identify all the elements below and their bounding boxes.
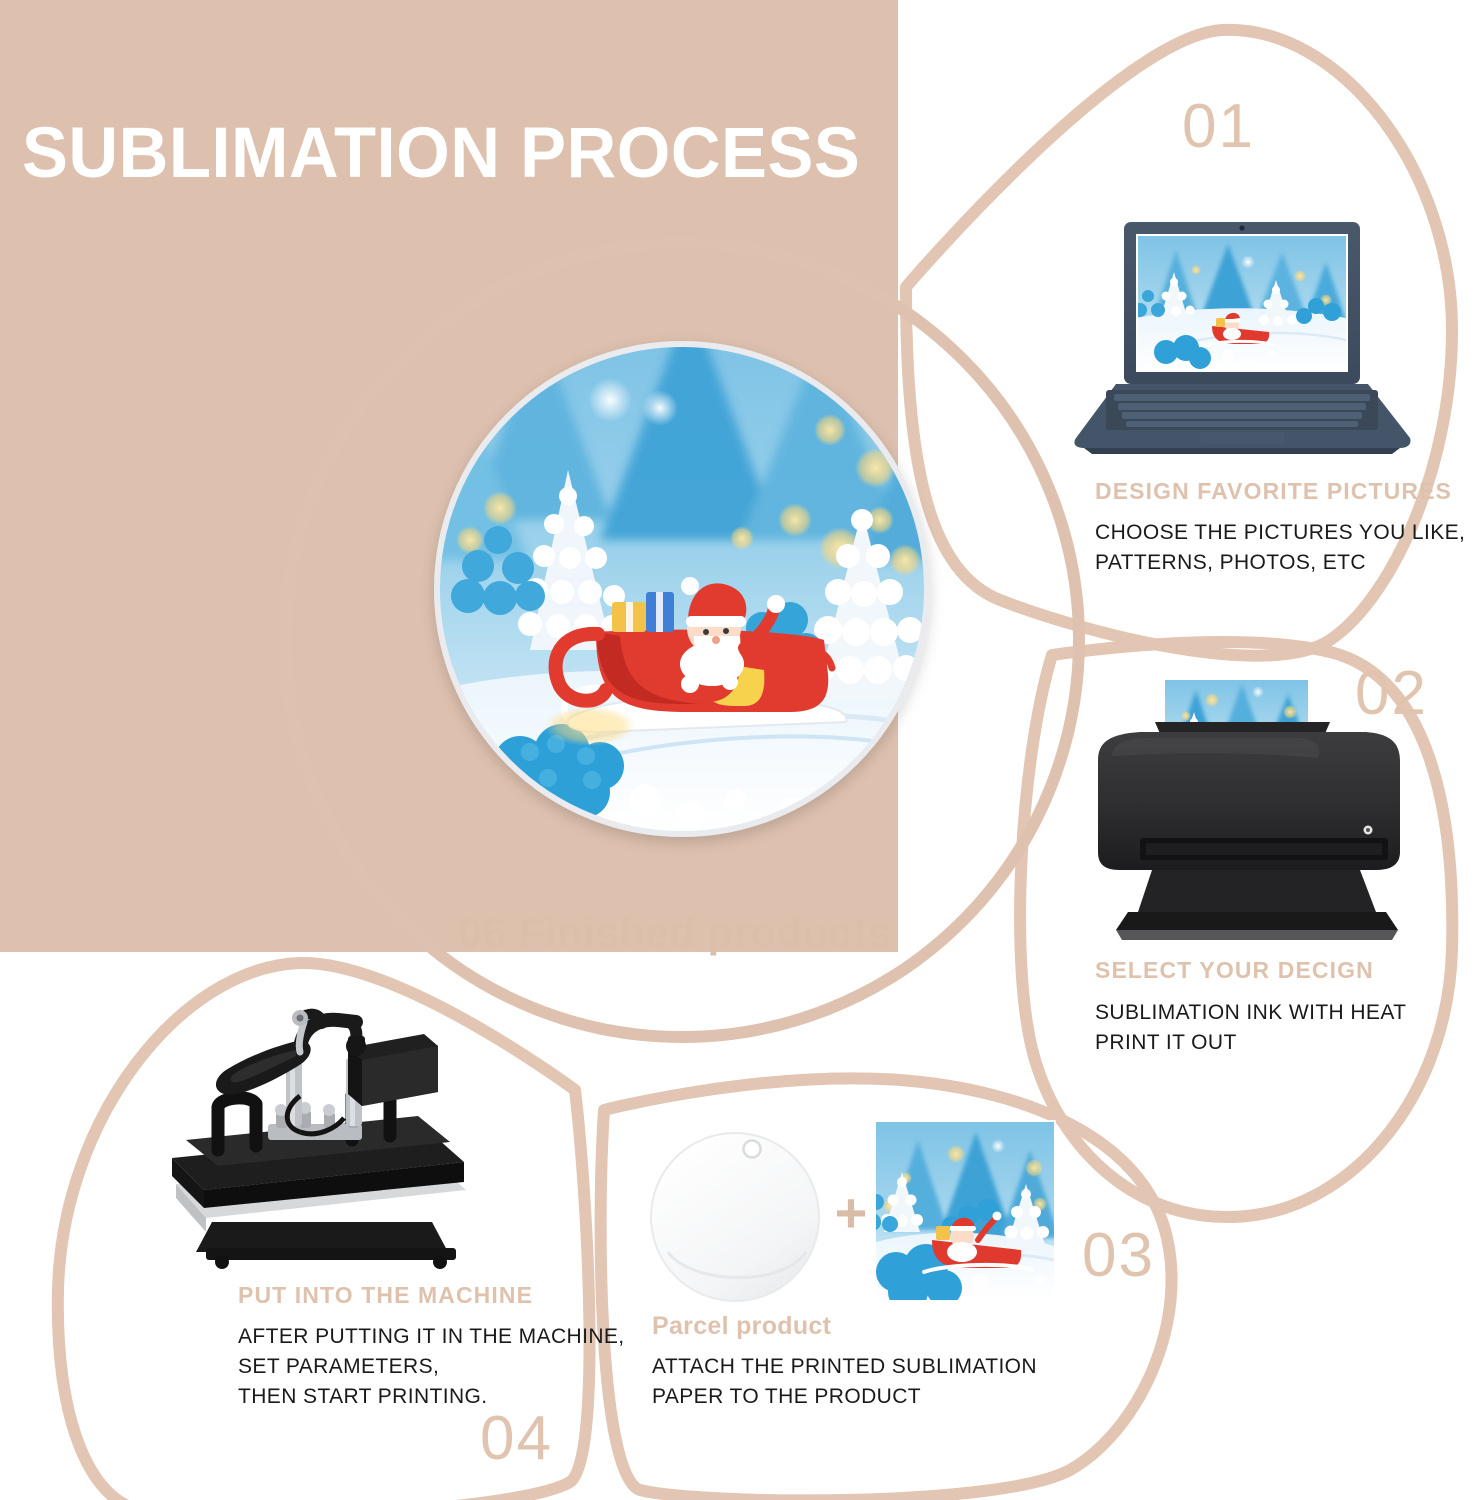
- step-heading-03: Parcel product: [652, 1312, 831, 1341]
- step-heading-02: SELECT YOUR DECIGN: [1095, 957, 1374, 984]
- plus-icon: +: [829, 1193, 873, 1237]
- page-title: SUBLIMATION PROCESS: [22, 118, 866, 189]
- step-number-04: 04: [480, 1408, 553, 1470]
- step-body-02: SUBLIMATION INK WITH HEAT PRINT IT OUT: [1095, 998, 1406, 1058]
- step-number-02: 02: [1355, 663, 1428, 725]
- step-body-04: AFTER PUTTING IT IN THE MACHINE, SET PAR…: [238, 1322, 625, 1411]
- blank-ornament-icon: [651, 1133, 819, 1301]
- laptop-icon: [1074, 222, 1410, 454]
- step-body-03: ATTACH THE PRINTED SUBLIMATION PAPER TO …: [652, 1352, 1037, 1412]
- printed-design-square: [863, 1120, 1060, 1312]
- step-heading-01: DESIGN FAVORITE PICTURES: [1095, 478, 1452, 505]
- infographic-canvas: SUBLIMATION PROCESS: [0, 0, 1478, 1500]
- step-number-01: 01: [1182, 96, 1255, 158]
- step-heading-04: PUT INTO THE MACHINE: [238, 1282, 533, 1309]
- heat-press-icon: [172, 1010, 466, 1269]
- step-number-03: 03: [1082, 1225, 1155, 1287]
- step-body-01: CHOOSE THE PICTURES YOU LIKE, PATTERNS, …: [1095, 518, 1465, 578]
- petal-outline-step-02: [1020, 642, 1452, 1217]
- center-product-label: 06 Finished products: [425, 909, 925, 957]
